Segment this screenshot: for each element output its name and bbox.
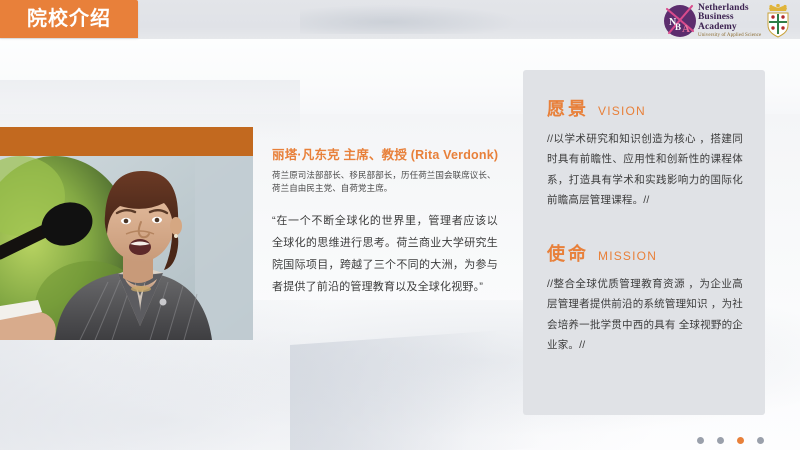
header-banner: 院校介绍: [0, 0, 138, 38]
pagination-dot-2[interactable]: [717, 437, 724, 444]
photo-accent-band: [0, 127, 253, 156]
person-info: 丽塔·凡东克 主席、教授 (Rita Verdonk) 荷兰原司法部部长、移民部…: [272, 148, 500, 195]
logo-line-3: Academy: [698, 23, 761, 33]
vision-heading-cn: 愿景: [547, 100, 589, 118]
vision-mission-panel: 愿景 VISION //以学术研究和知识创造为核心 ，搭建同时具有前瞻性、应用性…: [523, 70, 765, 415]
slide-root: 院校介绍 N B A Netherlands Business Academy …: [0, 0, 800, 450]
svg-text:B: B: [675, 22, 681, 32]
logo-tagline: University of Applied Science: [698, 33, 761, 38]
vision-heading-en: VISION: [598, 105, 646, 117]
pagination-dot-4[interactable]: [757, 437, 764, 444]
mission-heading-en: MISSION: [598, 250, 657, 262]
pagination-dot-3[interactable]: [737, 437, 744, 444]
nba-windmill-icon: N B A: [662, 3, 698, 39]
person-subtitle: 荷兰原司法部部长、移民部部长，历任荷兰国会联席议长、荷兰自由民主党、自荷党主席。: [272, 169, 500, 195]
vision-body: //以学术研究和知识创造为核心 ，搭建同时具有前瞻性、应用性和创新性的课程体系，…: [547, 129, 743, 211]
mission-heading-cn: 使命: [547, 245, 589, 263]
pagination-dot-1[interactable]: [697, 437, 704, 444]
pagination-dots[interactable]: [697, 437, 764, 444]
mission-heading: 使命 MISSION: [547, 245, 743, 263]
vision-heading: 愿景 VISION: [547, 100, 743, 118]
logo-wordmark: Netherlands Business Academy University …: [698, 4, 761, 39]
person-quote: “在一个不断全球化的世界里，管理者应该以全球化的思维进行思考。荷兰商业大学研究生…: [272, 210, 498, 298]
mission-section: 使命 MISSION //整合全球优质管理教育资源 ，为企业高层管理者提供前沿的…: [547, 245, 743, 356]
university-crest-icon: [764, 4, 792, 38]
vision-section: 愿景 VISION //以学术研究和知识创造为核心 ，搭建同时具有前瞻性、应用性…: [547, 100, 743, 211]
mission-body: //整合全球优质管理教育资源 ，为企业高层管理者提供前沿的系统管理知识 ，为社会…: [547, 274, 743, 356]
svg-text:A: A: [682, 23, 690, 35]
brand-logo: N B A Netherlands Business Academy Unive…: [662, 2, 794, 40]
speaker-photo: [0, 156, 253, 340]
page-title: 院校介绍: [27, 9, 111, 29]
person-name: 丽塔·凡东克 主席、教授 (Rita Verdonk): [272, 148, 500, 164]
